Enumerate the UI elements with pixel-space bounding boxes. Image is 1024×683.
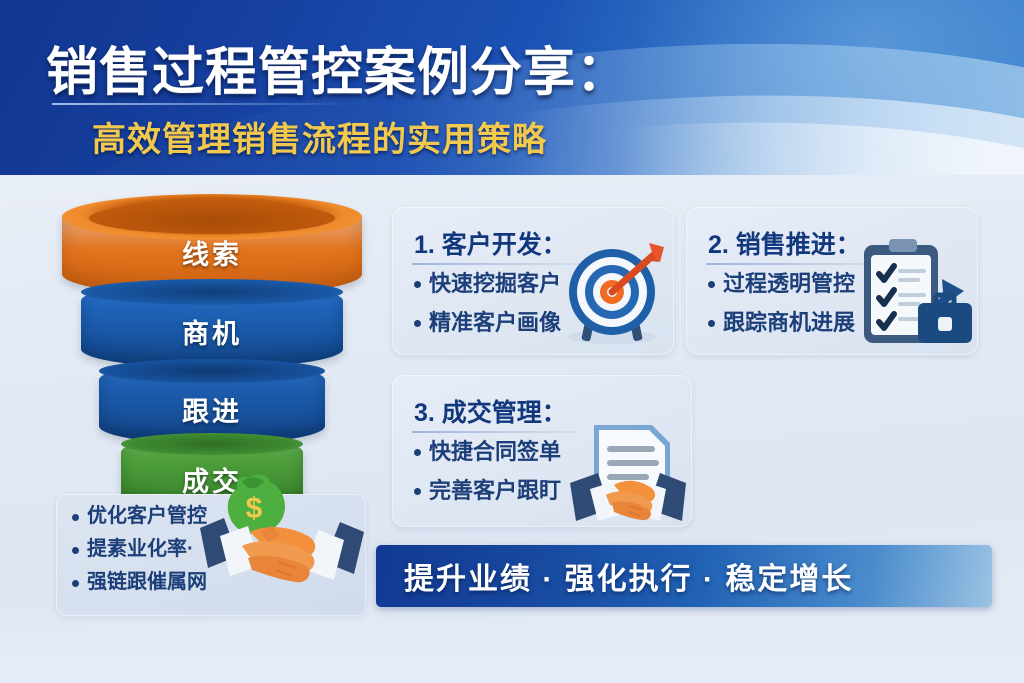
title-divider [52,103,352,105]
list-item-label: 完善客户跟盯 [429,480,561,502]
card-bullet-list: 快速挖掘客户 精准客户画像 [414,273,561,351]
list-item-label: 快速挖掘客户 [429,273,561,295]
sales-funnel: 线索 商机 跟进 成交 [52,196,372,506]
card-divider [412,263,580,265]
list-item: 强链跟催属网 [72,572,207,592]
checklist-briefcase-icon [852,233,974,351]
card-title: 2. 销售推进： [708,225,861,261]
funnel-rim [99,359,325,383]
infographic-poster: 销售过程管控案例分享： 高效管理销售流程的实用策略 线索 商机 跟进 成交 1.… [0,0,1024,683]
bullet-dot-icon [72,514,79,521]
list-item-label: 提素业化率· [87,539,194,559]
list-item: 提素业化率· [72,539,207,559]
card-sales-advancement[interactable]: 2. 销售推进： 过程透明管控 跟踪商机进展 [686,207,978,355]
bottom-slogan-banner: 提升业绩 · 强化执行 · 稳定增长 [376,545,992,607]
note-bullet-list: 优化客户管控 提素业化率· 强链跟催属网 [72,506,207,605]
card-title: 1. 客户开发： [414,225,567,261]
bullet-dot-icon [414,281,421,288]
card-deal-management[interactable]: 3. 成交管理： 快捷合同签单 完善客户跟盯 [392,375,692,527]
header-banner: 销售过程管控案例分享： 高效管理销售流程的实用策略 [0,0,1024,175]
money-handshake-icon: $ [198,470,366,620]
funnel-stage-label: 线索 [182,233,242,272]
card-title: 3. 成交管理： [414,393,567,429]
funnel-stage-opportunity: 商机 [81,282,343,368]
funnel-stage-label: 商机 [182,312,242,351]
card-divider [412,431,580,433]
page-title: 销售过程管控案例分享： [46,30,629,105]
list-item: 跟踪商机进展 [708,312,855,334]
list-item: 优化客户管控 [72,506,207,526]
page-subtitle: 高效管理销售流程的实用策略 [92,112,547,161]
bullet-dot-icon [414,449,421,456]
funnel-stage-followup: 跟进 [99,362,325,444]
list-item: 快速挖掘客户 [414,273,561,295]
list-item-label: 精准客户画像 [429,312,561,334]
card-bullet-list: 过程透明管控 跟踪商机进展 [708,273,855,351]
card-customer-development[interactable]: 1. 客户开发： 快速挖掘客户 精准客户画像 [392,207,674,355]
target-dartboard-icon [556,237,668,347]
funnel-rim [121,433,303,455]
funnel-stage-label: 跟进 [182,390,242,429]
list-item-label: 强链跟催属网 [87,572,207,592]
bullet-dot-icon [708,320,715,327]
bullet-dot-icon [708,281,715,288]
list-item: 精准客户画像 [414,312,561,334]
banner-text: 提升业绩 · 强化执行 · 稳定增长 [404,554,853,598]
funnel-rim [81,279,343,305]
bullet-dot-icon [72,547,79,554]
bullet-dot-icon [414,320,421,327]
list-item-label: 优化客户管控 [87,506,207,526]
svg-text:$: $ [246,492,263,525]
list-item: 完善客户跟盯 [414,480,561,502]
list-item: 快捷合同签单 [414,441,561,463]
bullet-dot-icon [72,580,79,587]
bullet-dot-icon [414,488,421,495]
list-item-label: 快捷合同签单 [429,441,561,463]
list-item: 过程透明管控 [708,273,855,295]
card-bullet-list: 快捷合同签单 完善客户跟盯 [414,441,561,519]
list-item-label: 跟踪商机进展 [723,312,855,334]
handshake-document-icon [568,407,688,525]
list-item-label: 过程透明管控 [723,273,855,295]
funnel-rim-inner [89,202,335,234]
bottom-fade-overlay [0,609,1024,683]
